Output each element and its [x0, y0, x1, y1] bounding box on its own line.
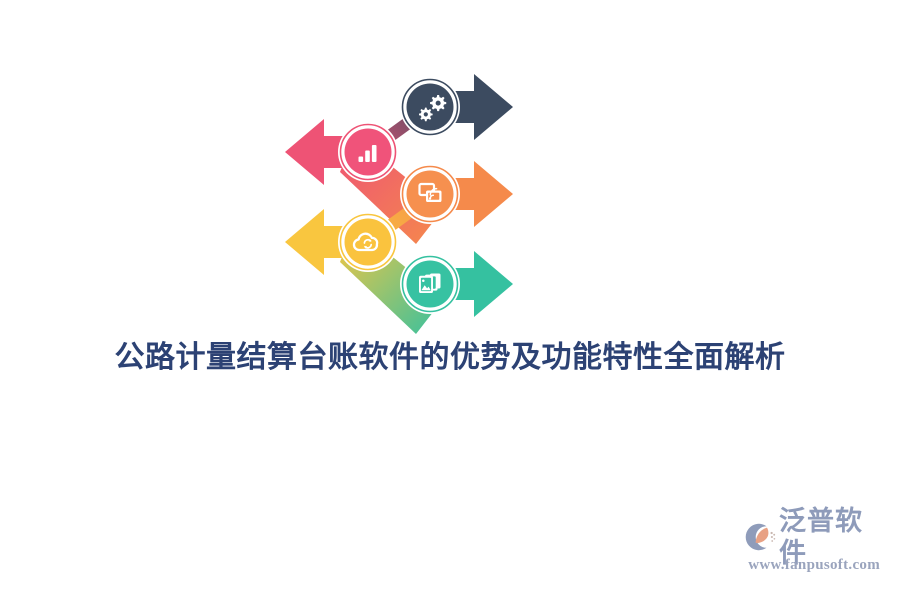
- badge-photos[interactable]: [400, 254, 460, 314]
- badge-gears[interactable]: [400, 77, 460, 137]
- page-canvas: 公路计量结算台账软件的优势及功能特性全面解析 泛普软件 www: [0, 0, 900, 600]
- page-title: 公路计量结算台账软件的优势及功能特性全面解析: [0, 336, 900, 380]
- badge-screen-cast[interactable]: [400, 164, 460, 224]
- zigzag-arrow-infographic: [278, 62, 523, 310]
- brand-url: www.fanpusoft.com: [742, 557, 882, 574]
- fanpu-logo-icon: [742, 521, 776, 553]
- brand-watermark: 泛普软件 www.fanpusoft.com: [742, 518, 882, 582]
- badge-cloud-sync[interactable]: [338, 212, 398, 272]
- badge-bar-chart[interactable]: [338, 122, 398, 182]
